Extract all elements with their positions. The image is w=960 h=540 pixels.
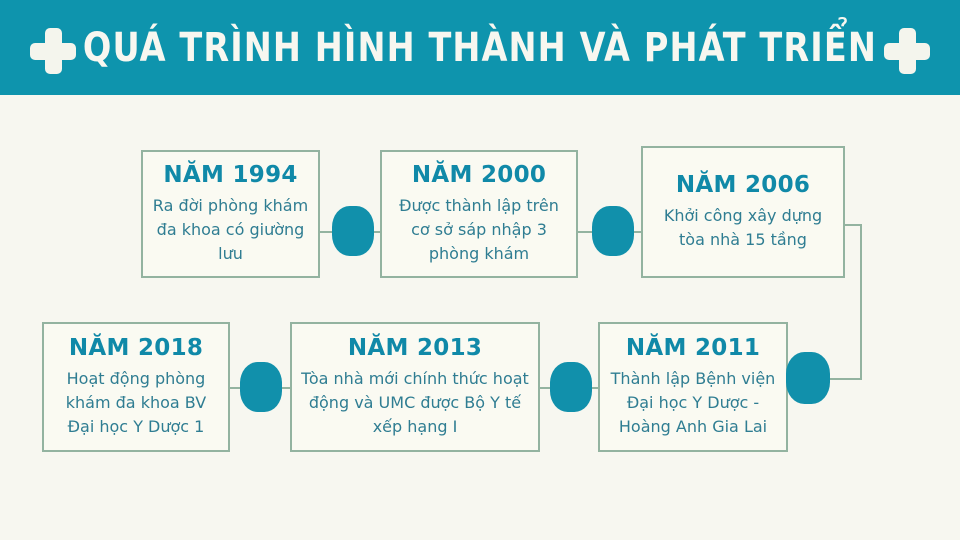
timeline-card-2006[interactable]: NĂM 2006 Khởi công xây dựng tòa nhà 15 t… <box>641 146 845 278</box>
slide-canvas: QUÁ TRÌNH HÌNH THÀNH VÀ PHÁT TRIỂN NĂM 1… <box>0 0 960 540</box>
timeline-card-year: NĂM 2006 <box>676 172 810 200</box>
timeline-card-year: NĂM 2011 <box>626 335 760 363</box>
cross-bar-vertical <box>45 28 62 74</box>
timeline-card-2011[interactable]: NĂM 2011 Thành lập Bệnh viện Đại học Y D… <box>598 322 788 452</box>
elbow-segment-vertical <box>860 224 862 380</box>
timeline-card-year: NĂM 1994 <box>163 162 297 190</box>
timeline-card-year: NĂM 2000 <box>412 162 546 190</box>
timeline-node-2018-2013[interactable] <box>240 362 282 412</box>
timeline-card-description: Hoạt động phòng khám đa khoa BV Đại học … <box>44 367 228 439</box>
cross-bar-vertical <box>899 28 916 74</box>
timeline-node-2013-2011[interactable] <box>550 362 592 412</box>
timeline-node-1994-2000[interactable] <box>332 206 374 256</box>
timeline-card-year: NĂM 2013 <box>348 335 482 363</box>
timeline-node-2000-2006[interactable] <box>592 206 634 256</box>
timeline-card-year: NĂM 2018 <box>69 335 203 363</box>
page-header: QUÁ TRÌNH HÌNH THÀNH VÀ PHÁT TRIỂN <box>0 0 960 95</box>
timeline-node-2011-end[interactable] <box>786 352 830 404</box>
timeline-card-2000[interactable]: NĂM 2000 Được thành lập trên cơ sở sáp n… <box>380 150 578 278</box>
timeline-card-description: Thành lập Bệnh viện Đại học Y Dược - Hoà… <box>600 367 786 439</box>
timeline-card-2018[interactable]: NĂM 2018 Hoạt động phòng khám đa khoa BV… <box>42 322 230 452</box>
timeline-card-description: Khởi công xây dựng tòa nhà 15 tầng <box>643 204 843 252</box>
timeline-card-description: Ra đời phòng khám đa khoa có giường lưu <box>143 194 318 266</box>
timeline-card-1994[interactable]: NĂM 1994 Ra đời phòng khám đa khoa có gi… <box>141 150 320 278</box>
timeline-card-description: Được thành lập trên cơ sở sáp nhập 3 phò… <box>382 194 576 266</box>
page-title: QUÁ TRÌNH HÌNH THÀNH VÀ PHÁT TRIỂN <box>83 28 877 68</box>
medical-cross-icon <box>884 28 930 74</box>
timeline-card-2013[interactable]: NĂM 2013 Tòa nhà mới chính thức hoạt độn… <box>290 322 540 452</box>
medical-cross-icon <box>30 28 76 74</box>
timeline-card-description: Tòa nhà mới chính thức hoạt động và UMC … <box>292 367 538 439</box>
